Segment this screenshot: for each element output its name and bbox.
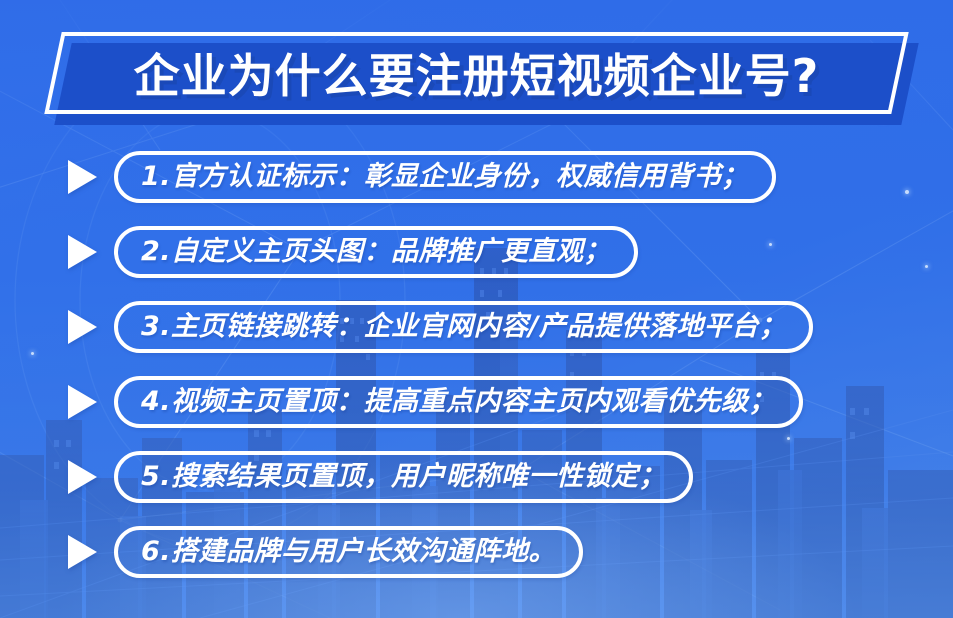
- triangle-bullet-icon: [68, 535, 97, 569]
- triangle-bullet-icon: [68, 460, 97, 494]
- poster-root: 企业为什么要注册短视频企业号? 1.官方认证标示：彰显企业身份，权威信用背书； …: [0, 0, 953, 618]
- reason-list: 1.官方认证标示：彰显企业身份，权威信用背书； 2.自定义主页头图：品牌推广更直…: [0, 146, 953, 596]
- list-item[interactable]: 6.搭建品牌与用户长效沟通阵地。: [0, 521, 953, 583]
- title-banner: 企业为什么要注册短视频企业号?: [53, 32, 900, 114]
- list-item-label: 2.自定义主页头图：品牌推广更直观；: [114, 226, 638, 278]
- list-item[interactable]: 1.官方认证标示：彰显企业身份，权威信用背书；: [0, 146, 953, 208]
- list-item-label: 4.视频主页置顶：提高重点内容主页内观看优先级；: [114, 376, 803, 428]
- list-item[interactable]: 5.搜索结果页置顶，用户昵称唯一性锁定；: [0, 446, 953, 508]
- triangle-bullet-icon: [68, 235, 97, 269]
- list-item-label: 5.搜索结果页置顶，用户昵称唯一性锁定；: [114, 451, 693, 503]
- list-item-label: 6.搭建品牌与用户长效沟通阵地。: [114, 526, 583, 578]
- triangle-bullet-icon: [68, 160, 97, 194]
- list-item[interactable]: 2.自定义主页头图：品牌推广更直观；: [0, 221, 953, 283]
- list-item[interactable]: 4.视频主页置顶：提高重点内容主页内观看优先级；: [0, 371, 953, 433]
- list-item-label: 3.主页链接跳转：企业官网内容/产品提供落地平台；: [114, 301, 813, 353]
- triangle-bullet-icon: [68, 385, 97, 419]
- page-title: 企业为什么要注册短视频企业号?: [53, 32, 900, 114]
- list-item-label: 1.官方认证标示：彰显企业身份，权威信用背书；: [114, 151, 776, 203]
- list-item[interactable]: 3.主页链接跳转：企业官网内容/产品提供落地平台；: [0, 296, 953, 358]
- triangle-bullet-icon: [68, 310, 97, 344]
